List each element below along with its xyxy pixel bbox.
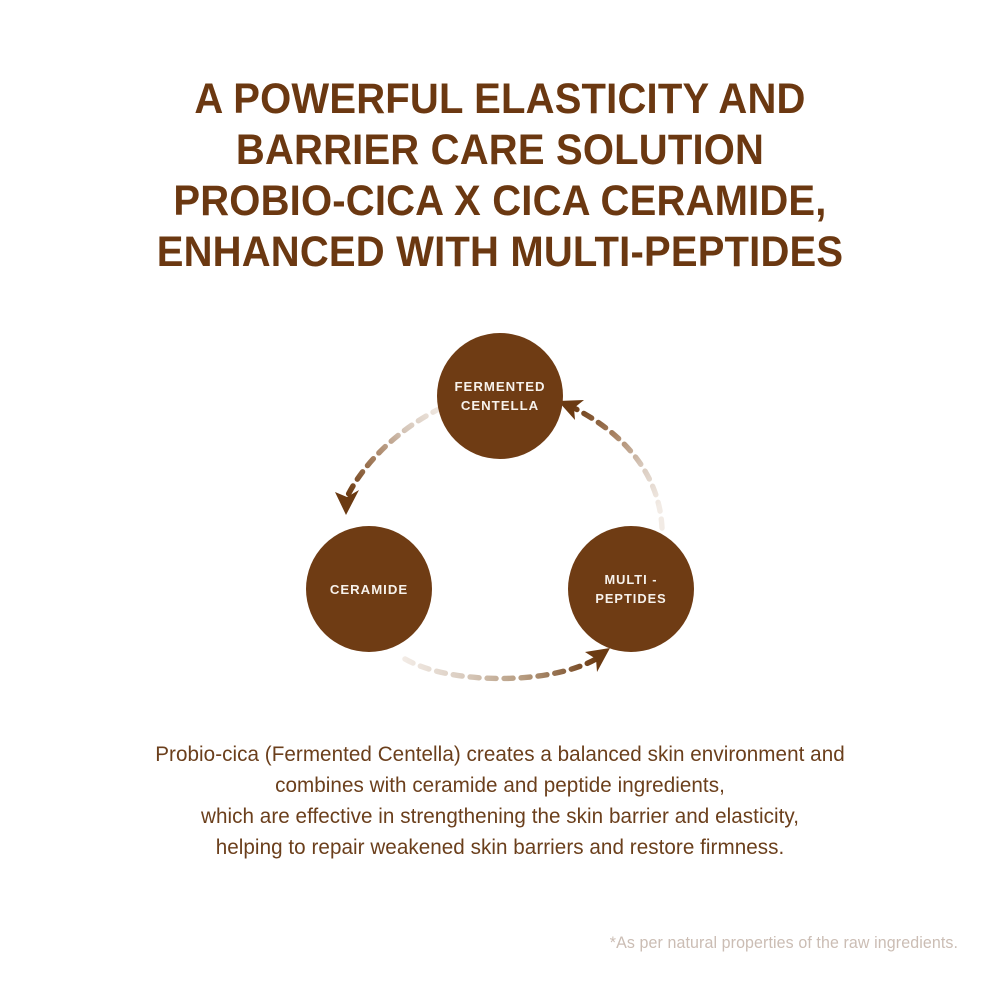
arrow-ceramide-to-peptides xyxy=(405,648,610,679)
node-multi-peptides[interactable]: MULTI - PEPTIDES xyxy=(568,526,694,652)
arrow-peptides-to-centella xyxy=(558,400,662,528)
description-line-1: Probio-cica (Fermented Centella) creates… xyxy=(20,739,980,770)
node-label-multi-peptides-line-1: MULTI - xyxy=(605,572,658,587)
node-fermented-centella[interactable]: FERMENTED CENTELLA xyxy=(437,333,563,459)
headline-line-4: ENHANCED WITH MULTI-PEPTIDES xyxy=(35,227,965,278)
description-paragraph: Probio-cica (Fermented Centella) creates… xyxy=(20,739,980,863)
node-ceramide[interactable]: CERAMIDE xyxy=(306,526,432,652)
ingredient-cycle-diagram: FERMENTED CENTELLA CERAMIDE MULTI - PEPT… xyxy=(0,300,1000,720)
node-label-fermented-centella-line-1: FERMENTED xyxy=(454,379,545,394)
page-title: A POWERFUL ELASTICITY AND BARRIER CARE S… xyxy=(35,74,965,278)
description-line-4: helping to repair weakened skin barriers… xyxy=(20,832,980,863)
node-label-multi-peptides-line-2: PEPTIDES xyxy=(595,591,666,606)
arrow-centella-to-ceramide xyxy=(335,408,441,515)
headline-line-3: PROBIO-CICA X CICA CERAMIDE, xyxy=(35,176,965,227)
infographic-panel: A POWERFUL ELASTICITY AND BARRIER CARE S… xyxy=(0,0,1000,1000)
headline-line-1: A POWERFUL ELASTICITY AND xyxy=(35,74,965,125)
footnote-disclaimer: *As per natural properties of the raw in… xyxy=(610,934,958,953)
node-label-fermented-centella-line-2: CENTELLA xyxy=(461,398,539,413)
node-circle-fermented-centella xyxy=(437,333,563,459)
description-line-3: which are effective in strengthening the… xyxy=(20,801,980,832)
headline-line-2: BARRIER CARE SOLUTION xyxy=(35,125,965,176)
description-line-2: combines with ceramide and peptide ingre… xyxy=(20,770,980,801)
node-circle-multi-peptides xyxy=(568,526,694,652)
node-label-ceramide: CERAMIDE xyxy=(330,582,408,597)
